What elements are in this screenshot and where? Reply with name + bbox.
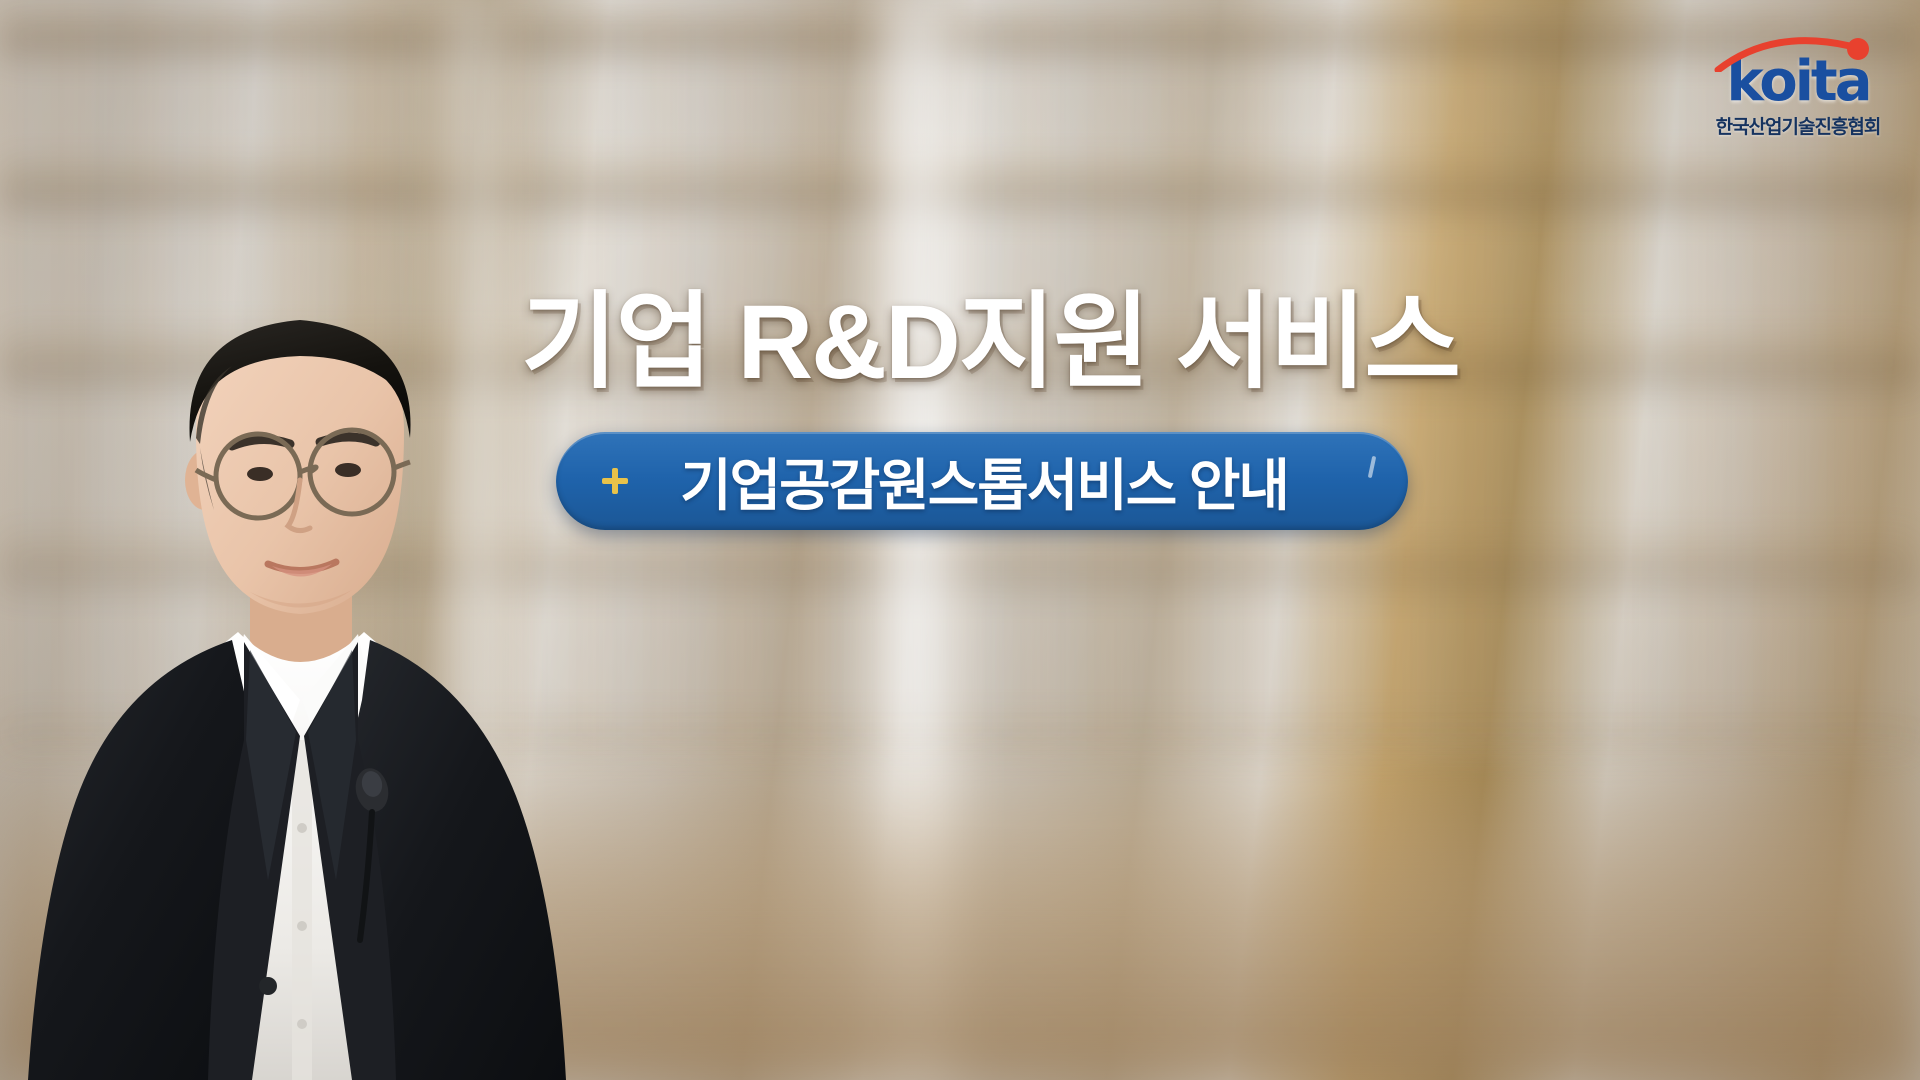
page-title: 기업 R&D지원 서비스 [495, 288, 1485, 398]
slide-canvas: 기업 R&D지원 서비스 기업공감원스톱서비스 안내 koita 한국산업기술진… [0, 0, 1920, 1080]
koita-logo: koita 한국산업기술진흥협회 [1698, 30, 1898, 142]
logo-organization-name: 한국산업기술진흥협회 [1716, 112, 1881, 139]
subtitle-badge: 기업공감원스톱서비스 안내 [556, 432, 1408, 530]
arc-with-dot-icon [1712, 30, 1888, 72]
subtitle-badge-label: 기업공감원스톱서비스 안내 [556, 441, 1408, 522]
plus-icon [600, 466, 630, 496]
